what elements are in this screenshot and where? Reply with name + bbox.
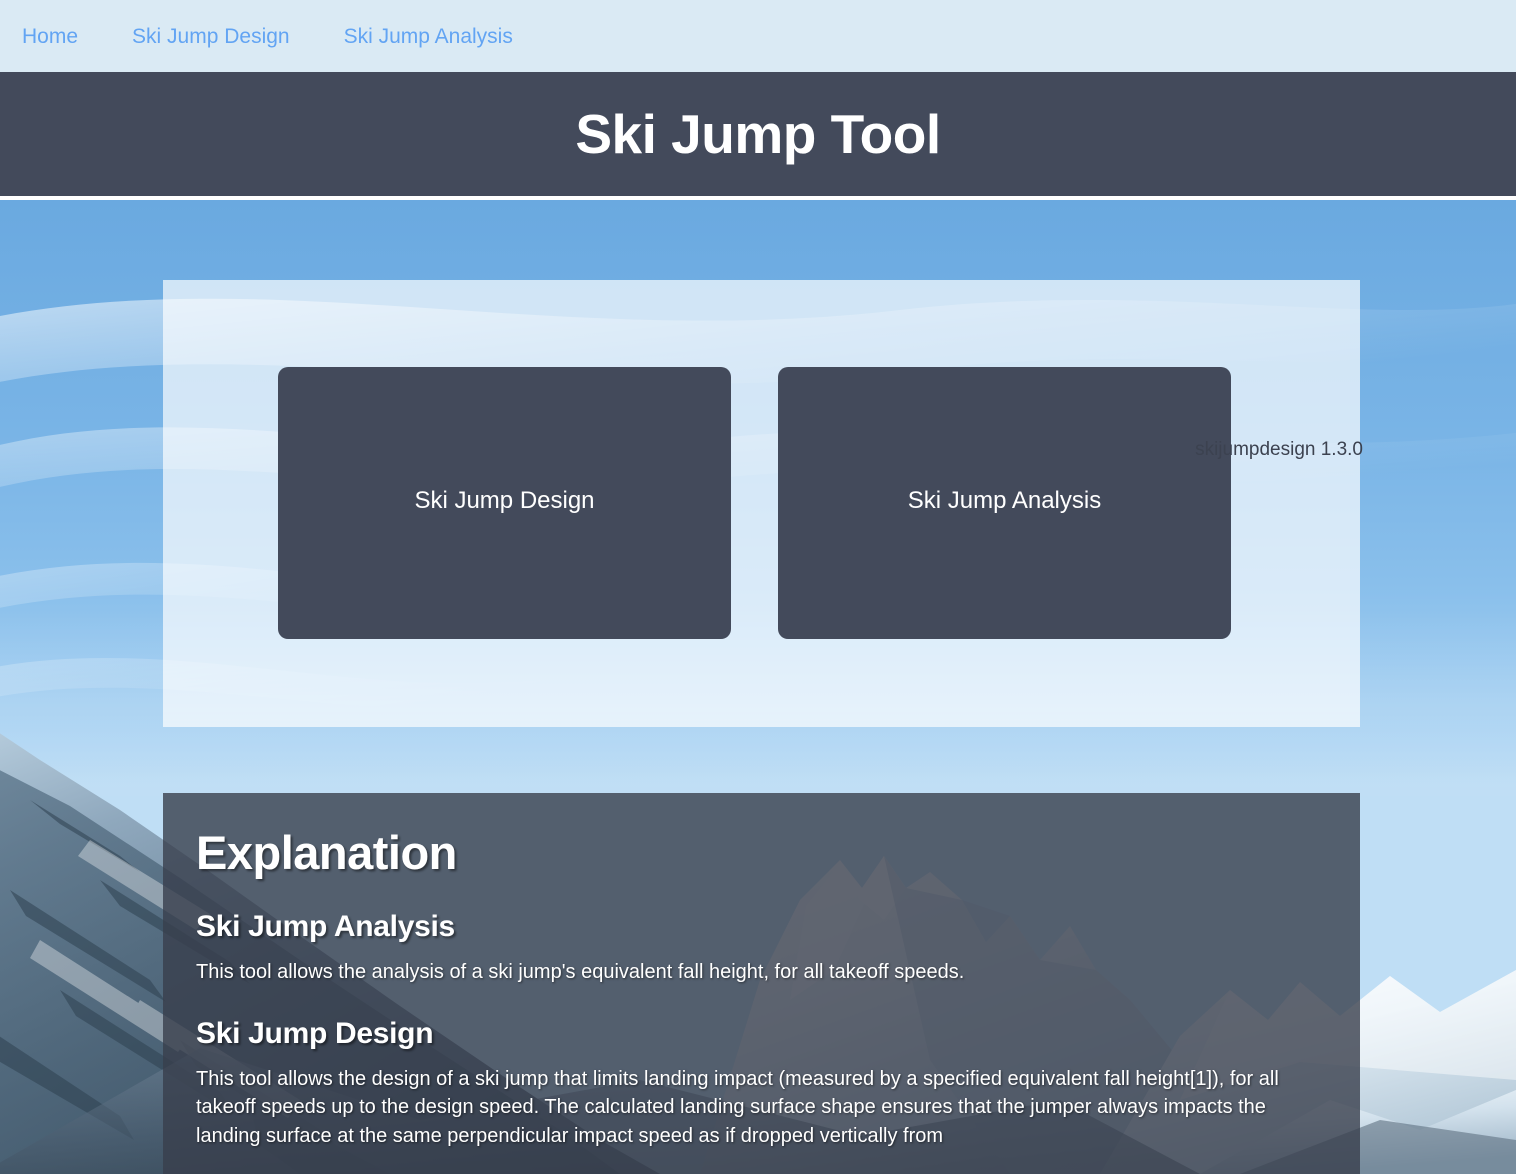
ski-jump-design-button[interactable]: Ski Jump Design (278, 367, 731, 639)
explanation-panel: Explanation Ski Jump Analysis This tool … (163, 793, 1360, 1174)
top-navigation-bar: Home Ski Jump Design Ski Jump Analysis (0, 0, 1516, 72)
explanation-body-analysis: This tool allows the analysis of a ski j… (196, 958, 1328, 986)
nav-link-home[interactable]: Home (22, 26, 78, 47)
ski-jump-analysis-button[interactable]: Ski Jump Analysis (778, 367, 1231, 639)
hero-section: skijumpdesign 1.3.0 Ski Jump Design Ski … (0, 200, 1516, 1174)
version-label: skijumpdesign 1.3.0 (1195, 440, 1363, 459)
app-header-banner: Ski Jump Tool (0, 72, 1516, 196)
nav-link-ski-jump-design[interactable]: Ski Jump Design (132, 26, 290, 47)
explanation-title: Explanation (196, 827, 1328, 880)
explanation-heading-analysis: Ski Jump Analysis (196, 910, 1328, 945)
tool-selection-card: Ski Jump Design Ski Jump Analysis (163, 280, 1360, 727)
explanation-body-design: This tool allows the design of a ski jum… (196, 1065, 1328, 1150)
nav-link-ski-jump-analysis[interactable]: Ski Jump Analysis (344, 26, 513, 47)
page-title: Ski Jump Tool (575, 107, 940, 162)
tool-button-row: Ski Jump Design Ski Jump Analysis (278, 367, 1231, 639)
explanation-heading-design: Ski Jump Design (196, 1017, 1328, 1052)
